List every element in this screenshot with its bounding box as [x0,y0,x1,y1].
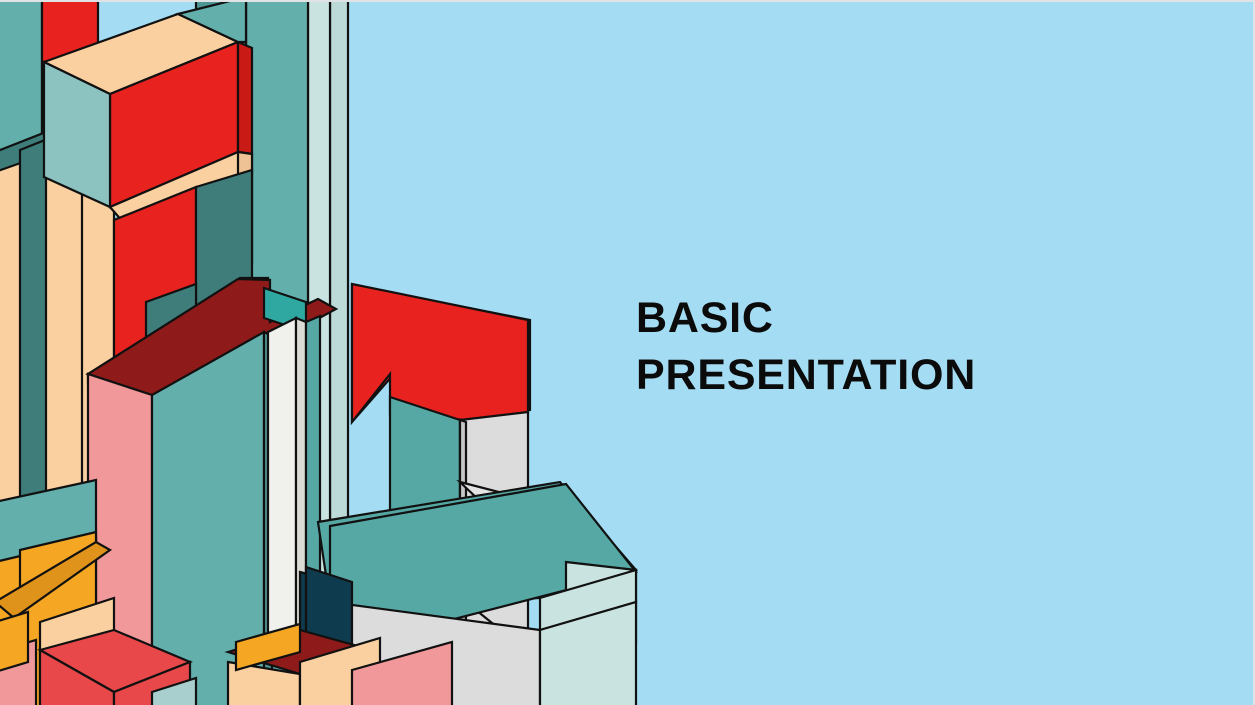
presentation-slide: BASIC PRESENTATION [0,0,1255,705]
isometric-blocks-artwork [0,2,700,705]
title-line-2: PRESENTATION [636,347,1156,404]
slide-title: BASIC PRESENTATION [636,290,1156,404]
title-line-1: BASIC [636,290,1156,347]
